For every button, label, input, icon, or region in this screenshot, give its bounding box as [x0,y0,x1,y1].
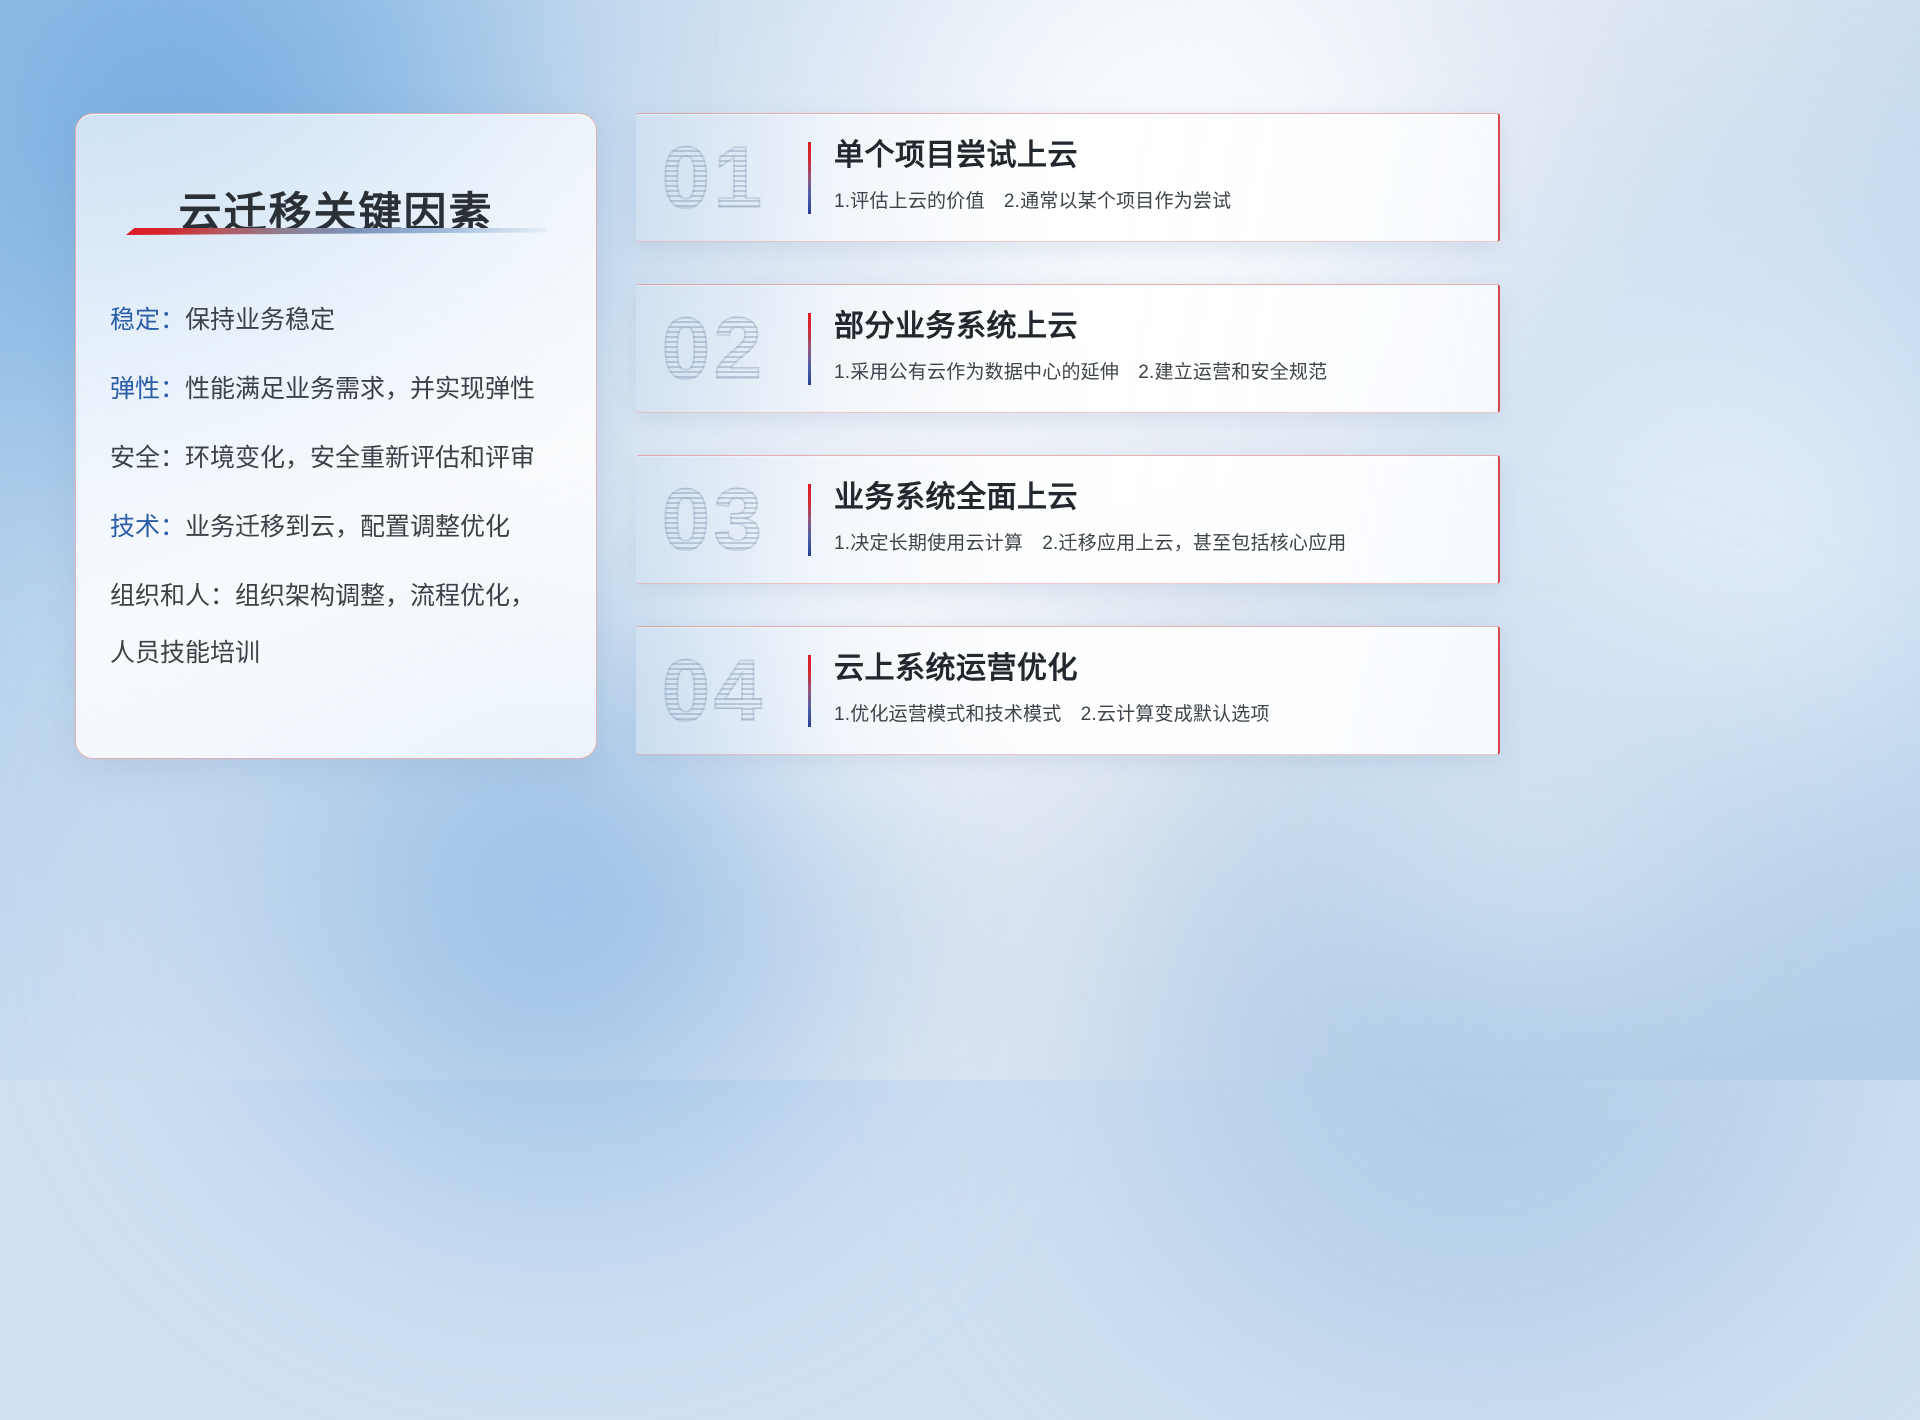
stage-number: 04 [662,648,766,734]
list-item-label: 弹性： [110,375,185,403]
list-item: 组织和人：组织架构调整，流程优化， 人员技能培训 [110,580,572,670]
stage-description: 1.优化运营模式和技术模式 2.云计算变成默认选项 [834,699,1476,726]
stage-card-body: 业务系统全面上云 1.决定长期使用云计算 2.迁移应用上云，甚至包括核心应用 [834,480,1476,555]
list-item-text: 业务迁移到云，配置调整优化 [185,513,510,541]
list-item-text: 保持业务稳定 [185,306,335,334]
accent-divider [808,142,811,214]
stage-description: 1.采用公有云作为数据中心的延伸 2.建立运营和安全规范 [834,357,1476,384]
accent-divider [808,313,811,385]
stage-number: 03 [662,477,766,563]
stage-number: 01 [662,135,766,221]
accent-divider [808,655,811,727]
list-item-label: 组织和人： [110,582,235,610]
stage-card[interactable]: 03 业务系统全面上云 1.决定长期使用云计算 2.迁移应用上云，甚至包括核心应… [636,455,1500,584]
stage-description: 1.决定长期使用云计算 2.迁移应用上云，甚至包括核心应用 [834,528,1476,555]
list-item: 技术：业务迁移到云，配置调整优化 [110,511,572,544]
stage-card-body: 单个项目尝试上云 1.评估上云的价值 2.通常以某个项目作为尝试 [834,138,1476,213]
list-item-text: 性能满足业务需求，并实现弹性 [185,375,535,403]
key-factors-list: 稳定：保持业务稳定 弹性：性能满足业务需求，并实现弹性 安全：环境变化，安全重新… [110,304,572,670]
accent-divider [808,484,811,556]
list-item: 稳定：保持业务稳定 [110,304,572,337]
stage-title: 云上系统运营优化 [834,651,1476,687]
migration-stage-cards: 01 单个项目尝试上云 1.评估上云的价值 2.通常以某个项目作为尝试 02 部… [636,113,1500,755]
key-factors-panel: 云迁移关键因素 稳定：保持业务稳定 弹性：性能满足业务需求，并实现弹性 安全：环… [75,113,597,759]
stage-title: 部分业务系统上云 [834,309,1476,345]
stage-card-body: 部分业务系统上云 1.采用公有云作为数据中心的延伸 2.建立运营和安全规范 [834,309,1476,384]
list-item: 弹性：性能满足业务需求，并实现弹性 [110,373,572,406]
stage-card[interactable]: 01 单个项目尝试上云 1.评估上云的价值 2.通常以某个项目作为尝试 [636,113,1500,242]
list-item-label: 稳定： [110,306,185,334]
stage-description: 1.评估上云的价值 2.通常以某个项目作为尝试 [834,186,1476,213]
list-item: 安全：环境变化，安全重新评估和评审 [110,442,572,475]
stage-card[interactable]: 04 云上系统运营优化 1.优化运营模式和技术模式 2.云计算变成默认选项 [636,626,1500,755]
list-item-label: 技术： [110,513,185,541]
list-item-text: 组织架构调整，流程优化， [235,582,535,610]
stage-card-body: 云上系统运营优化 1.优化运营模式和技术模式 2.云计算变成默认选项 [834,651,1476,726]
list-item-text: 环境变化，安全重新评估和评审 [185,444,535,472]
list-item-label: 安全： [110,444,185,472]
stage-title: 单个项目尝试上云 [834,138,1476,174]
list-item-continuation: 人员技能培训 [110,637,572,670]
stage-number: 02 [662,306,766,392]
stage-card[interactable]: 02 部分业务系统上云 1.采用公有云作为数据中心的延伸 2.建立运营和安全规范 [636,284,1500,413]
stage-title: 业务系统全面上云 [834,480,1476,516]
